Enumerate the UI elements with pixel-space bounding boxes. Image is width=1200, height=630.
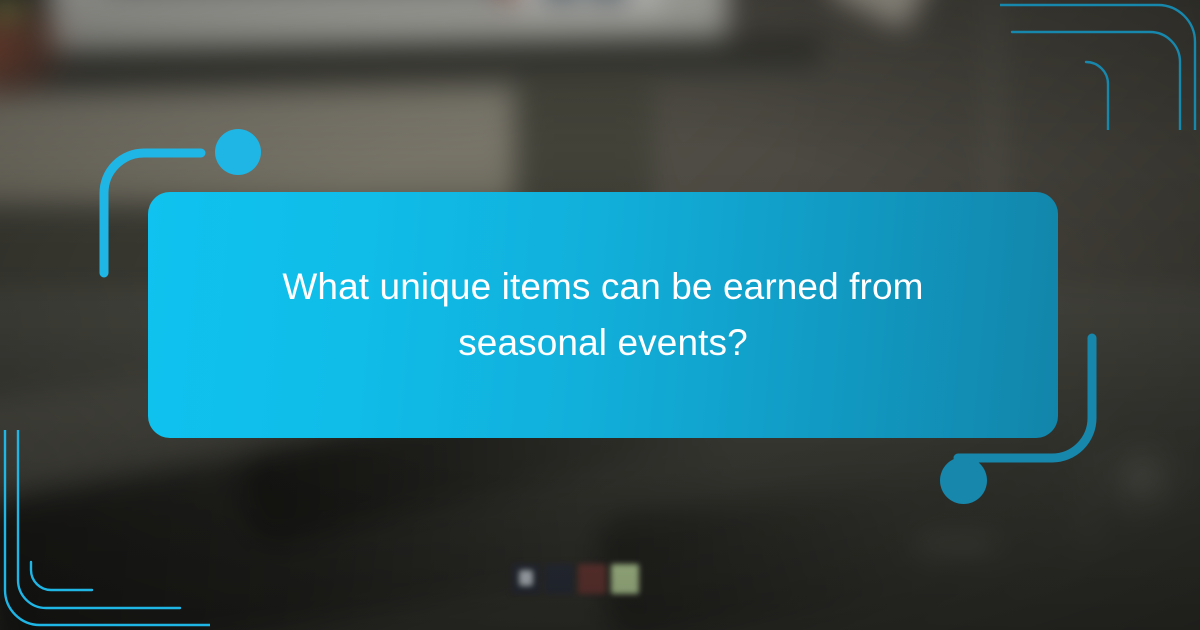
accent-dot-bottom-right bbox=[940, 457, 987, 504]
accent-dot-top-left bbox=[215, 129, 261, 175]
screenshot-stage: What unique items can be earned from sea… bbox=[0, 0, 1200, 630]
question-card: What unique items can be earned from sea… bbox=[148, 192, 1058, 438]
question-text: What unique items can be earned from sea… bbox=[258, 259, 948, 371]
